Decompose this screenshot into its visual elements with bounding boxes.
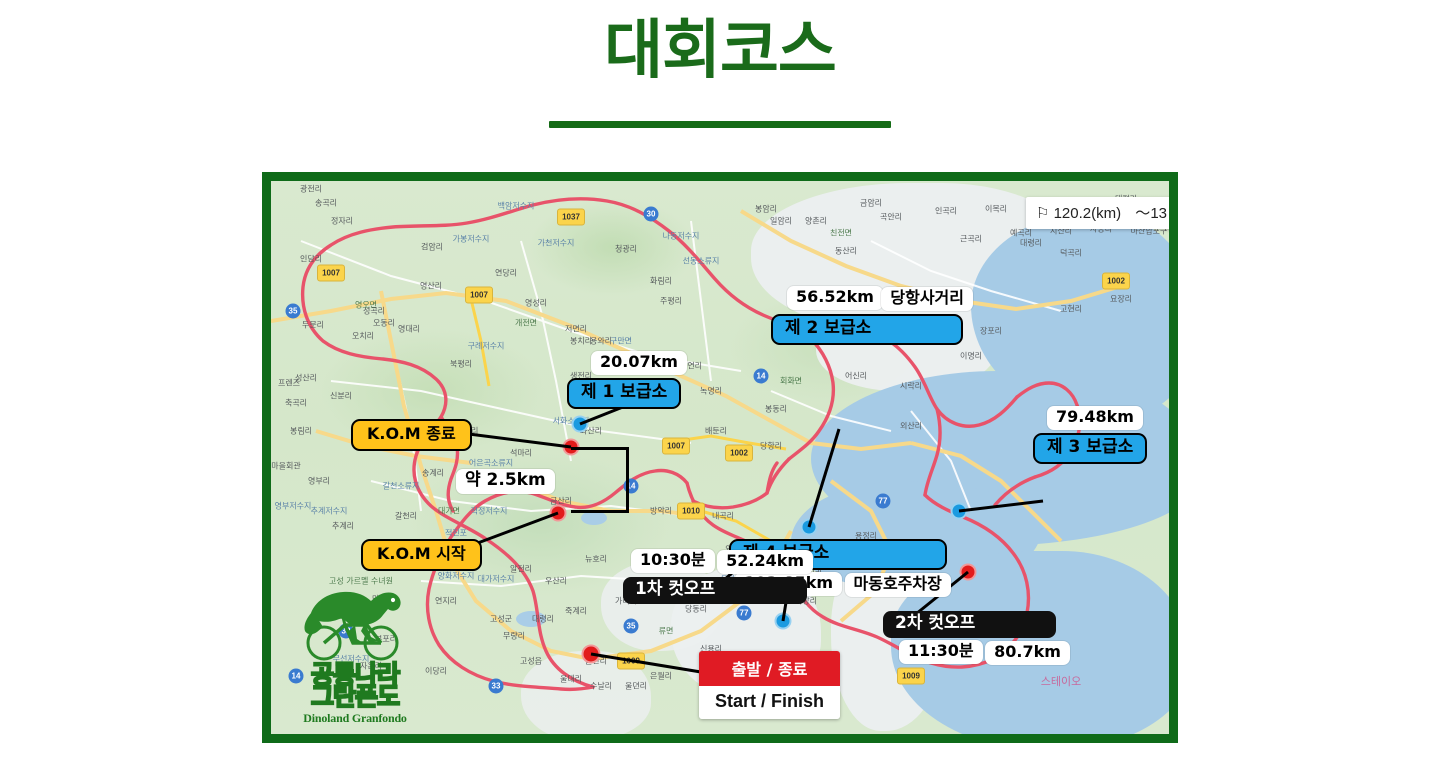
cutoff-2-distance: 80.7km xyxy=(985,641,1070,665)
map-canvas[interactable]: 정자리검암리인담리백암저수지103730송곡리광전리1007가봉저수지영산리연당… xyxy=(271,181,1169,734)
aid-station-1-group: 20.07km 제 1 보급소 xyxy=(567,351,681,407)
aid-station-3-group: 79.48km 제 3 보급소 xyxy=(1033,406,1147,462)
course-map-frame: 정자리검암리인담리백암저수지103730송곡리광전리1007가봉저수지영산리연당… xyxy=(262,172,1178,743)
flag-icon: ⚐ xyxy=(1036,205,1049,222)
logo-name-en: Dinoland Granfondo xyxy=(289,711,421,726)
elevation-icon: 〜 xyxy=(1135,205,1150,222)
aid-station-1-label[interactable]: 제 1 보급소 xyxy=(567,378,681,409)
start-finish-en: Start / Finish xyxy=(699,686,840,719)
aid-station-2-distance: 56.52km xyxy=(787,286,883,310)
kom-start-label[interactable]: K.O.M 시작 xyxy=(361,539,482,571)
cutoff-2-label[interactable]: 2차 컷오프 xyxy=(883,611,1056,638)
aid-station-1-distance: 20.07km xyxy=(591,351,687,375)
cutoff-1-label[interactable]: 1차 컷오프 xyxy=(623,577,807,604)
aid-station-4-place: 마동호주차장 xyxy=(845,573,951,597)
aid-station-3-label[interactable]: 제 3 보급소 xyxy=(1033,433,1147,464)
cutoff-2-group: 2차 컷오프 11:30분 80.7km xyxy=(883,611,1056,663)
route-total-distance: 120.2(km) xyxy=(1054,205,1122,222)
event-logo: 공룡나라 그란폰도 Dinoland Granfondo xyxy=(289,587,421,726)
aid-station-3-distance: 79.48km xyxy=(1047,406,1143,430)
cutoff-1-group: 10:30분 52.24km 1차 컷오프 xyxy=(623,549,807,601)
page-title: 대회코스 xyxy=(0,18,1440,85)
kom-segment-length-label: 약 2.5km xyxy=(456,469,555,494)
start-finish-box[interactable]: 출발 / 종료 Start / Finish xyxy=(699,651,840,719)
cutoff-1-distance: 52.24km xyxy=(717,550,813,574)
logo-name-kr-line2: 그란폰도 xyxy=(289,684,421,709)
kom-end-label[interactable]: K.O.M 종료 xyxy=(351,419,472,451)
aid-station-2-label[interactable]: 제 2 보급소 xyxy=(771,314,963,345)
page-header: 대회코스 xyxy=(0,0,1440,128)
route-stats-overlay: ⚐ 120.2(km) 〜13 xyxy=(1026,197,1169,229)
title-divider xyxy=(549,121,891,128)
start-finish-kr: 출발 / 종료 xyxy=(699,651,840,686)
dinosaur-cyclist-icon xyxy=(297,587,413,665)
cutoff-2-time: 11:30분 xyxy=(899,640,983,664)
aid-station-2-group: 56.52km 당항사거리 제 2 보급소 xyxy=(771,286,963,342)
aid-station-2-place: 당항사거리 xyxy=(881,287,973,311)
kom-segment-bracket xyxy=(571,447,629,513)
route-total-elevation: 13 xyxy=(1150,205,1167,222)
cutoff-1-time: 10:30분 xyxy=(631,549,715,573)
